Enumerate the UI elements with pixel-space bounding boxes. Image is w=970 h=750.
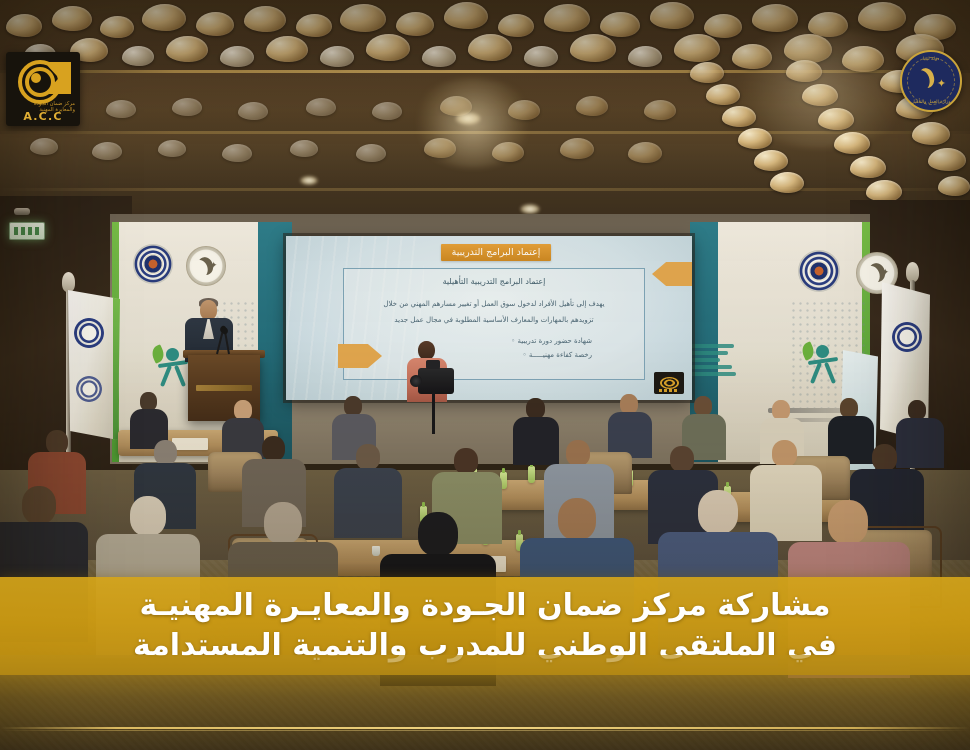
caption-line-1: مشاركة مركز ضمان الجـودة والمعايـرة المه… xyxy=(140,586,831,626)
acc-logo: مركز ضمان الجودة والمعايرة المهنية A.C.C xyxy=(6,52,80,126)
drinking-glass xyxy=(372,546,380,556)
caption-line-2: في الملتقى الوطني للمدرب والتنمية المستد… xyxy=(133,626,837,666)
ceiling-downlight xyxy=(520,204,540,214)
slide-bullet-1: ◦ رخصة كفاءة مهنيـــــة xyxy=(522,351,592,359)
crescent-emblem-icon: ✦ xyxy=(186,246,226,286)
acc-logo-abbr: A.C.C xyxy=(6,110,80,123)
slide-title-tag: إعتماد البرامج التدريبية xyxy=(441,244,551,261)
water-bottle xyxy=(528,466,535,483)
event-photo-card: ✦ ✦ إعتماد الب xyxy=(0,0,970,750)
exit-sign-icon xyxy=(9,222,45,240)
bottom-gold-rule-secondary xyxy=(0,730,970,731)
gov-emblem-text-bottom: وزارة العمل والتأهيل xyxy=(902,100,960,105)
projection-screen: إعتماد البرامج التدريبية إعتماد البرامج … xyxy=(286,236,692,400)
tripod xyxy=(432,392,435,434)
forum-logo-text xyxy=(684,344,738,379)
document-sheet xyxy=(172,438,208,450)
slide-acc-logo-icon xyxy=(654,372,684,394)
slide-content-box: إعتماد البرامج التدريبية التأهيلية يهدف … xyxy=(343,268,645,380)
video-camera-icon xyxy=(418,368,454,394)
slide-paragraph-2: تزويدهم بالمهارات والمعارف الأساسية المط… xyxy=(356,313,632,327)
gear-emblem-icon xyxy=(133,244,173,284)
flag-finial xyxy=(62,272,75,292)
slide-heading: إعتماد البرامج التدريبية التأهيلية xyxy=(344,277,644,286)
eye-target-icon xyxy=(14,60,72,100)
caption-band: مشاركة مركز ضمان الجـودة والمعايـرة المه… xyxy=(0,577,970,675)
slide-bullet-0: ◦ شهادة حضور دورة تدريبية xyxy=(511,337,592,345)
ceiling-area xyxy=(0,0,970,232)
gear-emblem-icon xyxy=(798,250,840,292)
speaker-head xyxy=(200,300,217,320)
bottom-gold-rule xyxy=(0,727,970,729)
government-emblem: دولة ليبيا ✦ وزارة العمل والتأهيل xyxy=(900,50,962,112)
ceiling-downlight xyxy=(300,176,318,185)
flag-finial xyxy=(906,262,919,282)
flag-left xyxy=(68,290,120,440)
wall-lamp xyxy=(14,208,30,215)
slide-paragraph-1: يهدف إلى تأهيل الأفراد لدخول سوق العمل أ… xyxy=(356,297,632,311)
gov-emblem-text-top: دولة ليبيا xyxy=(902,57,960,62)
